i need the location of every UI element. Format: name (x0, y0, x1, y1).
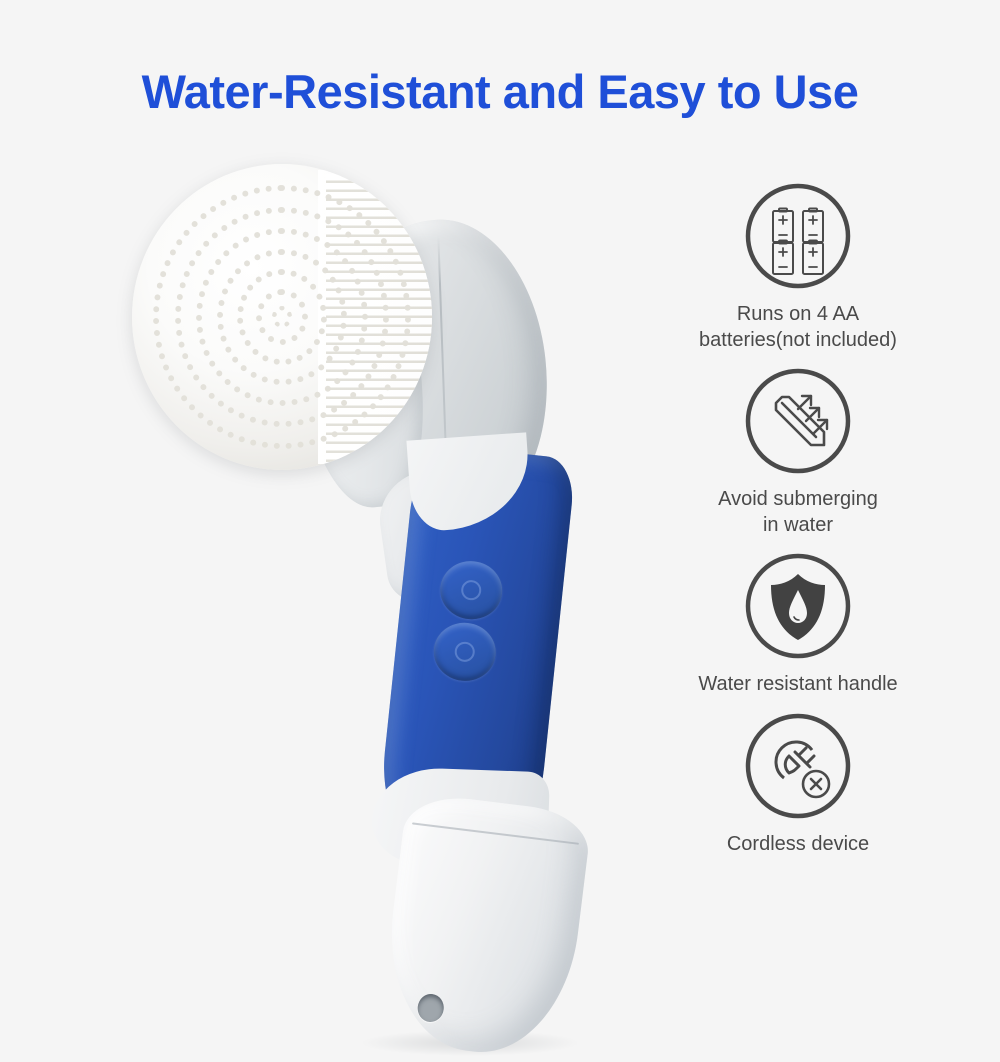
feature-label-water-resistant: Water resistant handle (698, 672, 897, 698)
feature-item-cordless: Cordless device (648, 710, 948, 858)
power-button[interactable] (437, 558, 505, 622)
page-title: Water-Resistant and Easy to Use (0, 64, 1000, 119)
bristle-ring (272, 306, 292, 328)
feature-item-water-resistant: Water resistant handle (648, 550, 948, 698)
speed-button[interactable] (431, 620, 499, 684)
feature-list: Runs on 4 AA batteries(not included) Avo… (648, 180, 948, 858)
feature-label-batteries: Runs on 4 AA batteries(not included) (699, 302, 897, 353)
four-aa-batteries-icon (742, 180, 854, 292)
avoid-submerging-icon (742, 365, 854, 477)
feature-item-batteries: Runs on 4 AA batteries(not included) (648, 180, 948, 353)
product-image (110, 150, 630, 940)
feature-label-avoid-submerging: Avoid submerging in water (718, 487, 878, 538)
grip-top-trim (406, 432, 532, 532)
feature-item-avoid-submerging: Avoid submerging in water (648, 365, 948, 538)
hanging-hole (416, 993, 445, 1024)
compartment-seam (412, 822, 579, 844)
battery-compartment (377, 792, 592, 1062)
feature-label-cordless: Cordless device (727, 832, 869, 858)
brush-bristle-head (132, 164, 432, 470)
water-resistant-shield-icon (742, 550, 854, 662)
no-power-plug-icon (742, 710, 854, 822)
